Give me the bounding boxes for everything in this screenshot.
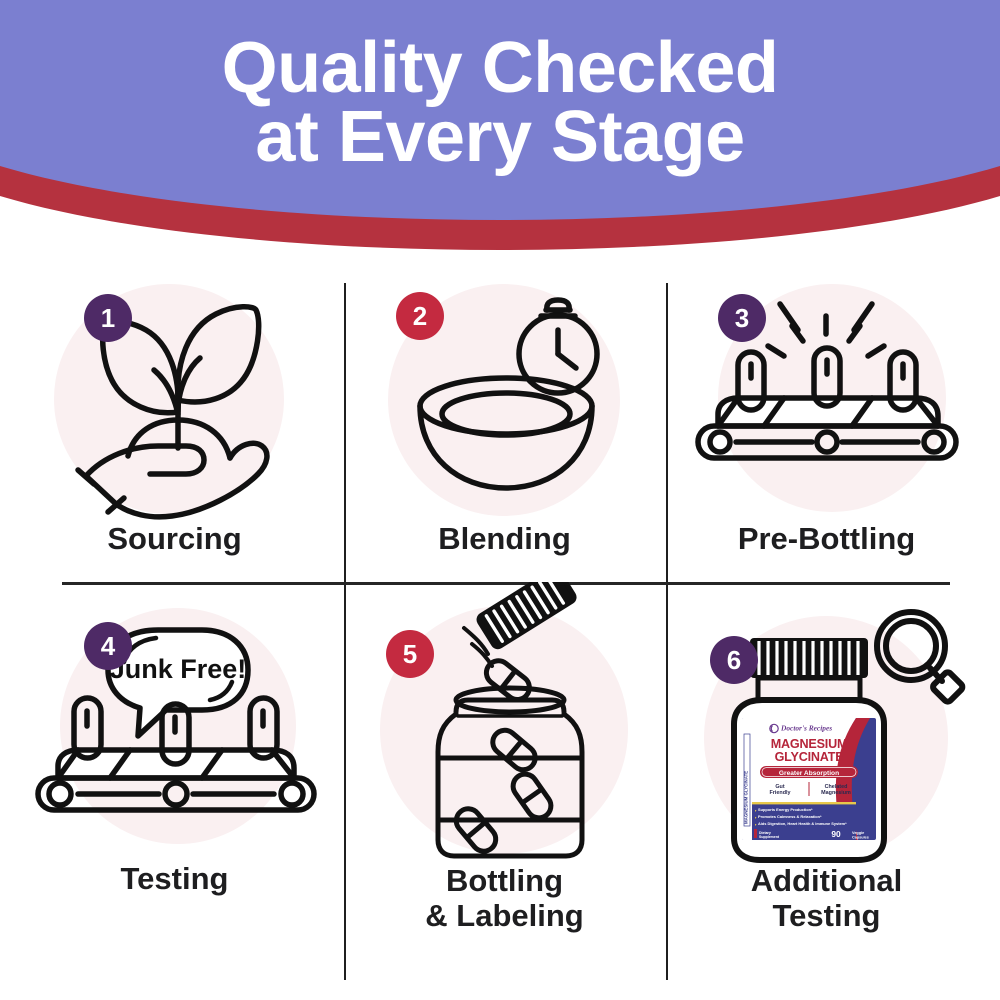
step-badge-2: 2: [396, 292, 444, 340]
step-caption-4-line1: Testing: [121, 861, 229, 896]
conveyor-capsules-speech-icon: Junk Free!: [16, 626, 336, 852]
label-brand-text: Doctor's Recipes: [780, 724, 832, 733]
banner-title-line1: Quality Checked: [222, 28, 779, 108]
step-badge-4: 4: [84, 622, 132, 670]
step-caption-3: Pre-Bottling: [660, 522, 993, 557]
label-count-unit-2: Capsules: [852, 835, 869, 839]
label-side-text: MAGNESIUM GLYCINATE: [744, 771, 749, 824]
label-count: 90: [831, 829, 841, 839]
jar-filling-capsules-icon: [394, 582, 624, 872]
step-card-4[interactable]: 4: [8, 600, 341, 940]
step-card-2[interactable]: 2: [338, 272, 671, 582]
step-caption-4: Testing: [8, 862, 341, 897]
label-bullet-0: Supports Energy Production*: [758, 807, 813, 812]
step-caption-1-line1: Sourcing: [107, 521, 241, 556]
product-label: MAGNESIUM GLYCINATE Doctor's Recipes: [742, 718, 876, 840]
banner-title: Quality Checked at Every Stage: [0, 34, 1000, 172]
step-caption-5: Bottling & Labeling: [338, 864, 671, 933]
label-bullet-2: Aids Digestion, Heart Health & Immune Sy…: [758, 821, 847, 826]
step-badge-5: 5: [386, 630, 434, 678]
label-feature-right-2: Magnesium: [821, 790, 851, 796]
banner-title-line2: at Every Stage: [0, 103, 1000, 172]
step-caption-1: Sourcing: [8, 522, 341, 557]
bottle-cap: [750, 638, 868, 700]
step-caption-5-line1: Bottling: [446, 863, 563, 898]
step-caption-6: Additional Testing: [660, 864, 993, 933]
step-caption-6-line1: Additional: [751, 863, 903, 898]
step-caption-5-line2: & Labeling: [338, 899, 671, 934]
step-caption-3-line1: Pre-Bottling: [738, 521, 915, 556]
label-feature-left-2: Friendly: [770, 790, 791, 796]
label-ribbon-text: Greater Absorption: [779, 770, 839, 777]
label-name-line1: MAGNESIUM: [771, 737, 848, 751]
step-badge-3: 3: [718, 294, 766, 342]
step-caption-2: Blending: [338, 522, 671, 557]
label-bullet-1: Promotes Calmness & Relaxation*: [758, 814, 822, 819]
steps-grid: 1: [0, 262, 1000, 1000]
step-badge-1: 1: [84, 294, 132, 342]
header-banner: Quality Checked at Every Stage: [0, 0, 1000, 262]
step-card-6[interactable]: 6: [660, 592, 993, 940]
label-name-line2: GLYCINATE: [775, 750, 844, 764]
step-caption-6-line2: Testing: [660, 899, 993, 934]
step-caption-2-line1: Blending: [438, 521, 571, 556]
step-card-5[interactable]: 5: [338, 582, 671, 940]
step-card-1[interactable]: 1: [8, 272, 341, 582]
speech-bubble-text: Junk Free!: [110, 654, 247, 684]
step-card-3[interactable]: 3: [660, 272, 993, 582]
infographic-root: Quality Checked at Every Stage 1: [0, 0, 1000, 1000]
step-badge-6: 6: [710, 636, 758, 684]
label-supplement-2: Supplement: [759, 835, 780, 839]
label-count-unit-1: Veggie: [852, 831, 864, 835]
magnifier-icon: [877, 612, 964, 703]
